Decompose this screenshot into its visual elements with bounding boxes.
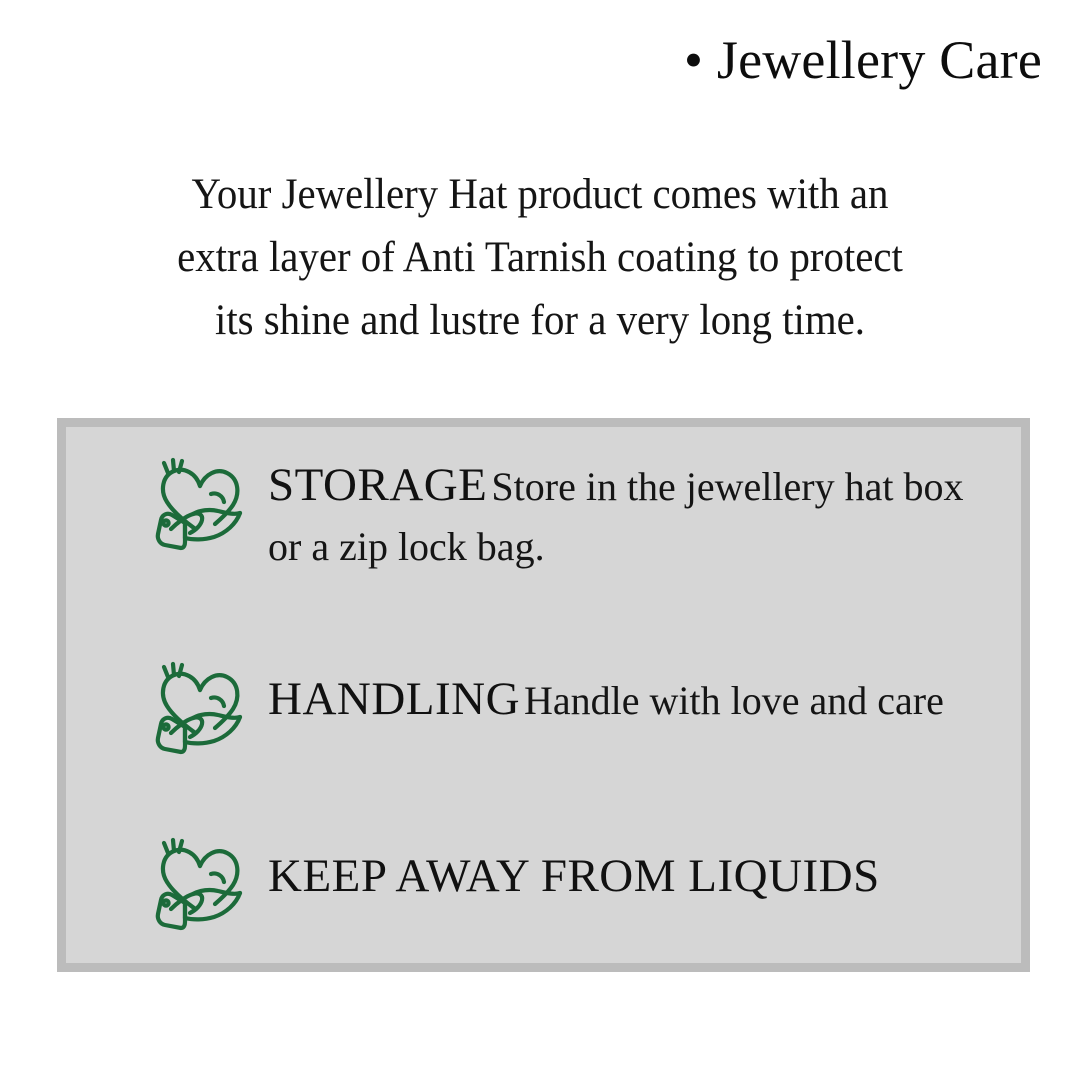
- care-item-storage: STORAGE Store in the jewellery hat box o…: [150, 453, 1021, 577]
- intro-paragraph: Your Jewellery Hat product comes with an…: [84, 163, 996, 352]
- intro-line-2: extra layer of Anti Tarnish coating to p…: [84, 226, 996, 289]
- care-text-handling: HANDLING Handle with love and care: [268, 657, 944, 731]
- care-desc-handling-line-1: Handle with love and care: [524, 678, 944, 723]
- intro-line-3: its shine and lustre for a very long tim…: [84, 289, 996, 352]
- care-heading-keep-away-from-liquids: KEEP AWAY FROM LIQUIDS: [268, 850, 880, 902]
- care-heading-storage: STORAGE: [268, 459, 487, 511]
- heart-in-hand-icon: [150, 453, 254, 557]
- heart-in-hand-icon: [150, 657, 254, 761]
- care-desc-storage-line-2: or a zip lock bag.: [268, 524, 545, 569]
- care-item-keep-away-from-liquids: KEEP AWAY FROM LIQUIDS: [150, 833, 880, 937]
- page-title: • Jewellery Care: [684, 32, 1042, 89]
- heart-in-hand-icon: [150, 833, 254, 937]
- intro-line-1: Your Jewellery Hat product comes with an: [84, 163, 996, 226]
- care-instructions-panel: STORAGE Store in the jewellery hat box o…: [57, 418, 1030, 972]
- care-text-keep-away-from-liquids: KEEP AWAY FROM LIQUIDS: [268, 833, 880, 903]
- care-text-storage: STORAGE Store in the jewellery hat box o…: [268, 453, 1021, 577]
- care-desc-storage-line-1: Store in the jewellery hat box: [491, 464, 963, 509]
- care-item-handling: HANDLING Handle with love and care: [150, 657, 944, 761]
- care-heading-handling: HANDLING: [268, 673, 520, 725]
